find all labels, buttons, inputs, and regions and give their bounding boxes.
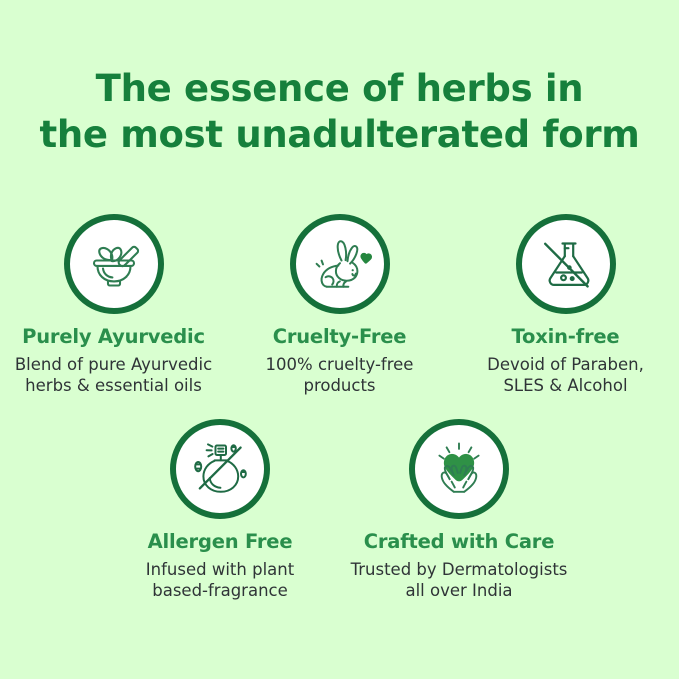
- feature-title: Allergen Free: [148, 530, 293, 554]
- feature-card-allergen-free: Allergen Free Infused with plant based-f…: [101, 419, 340, 601]
- feature-card-cruelty-free: Cruelty-Free 100% cruelty-free products: [227, 214, 453, 396]
- page-title: The essence of herbs in the most unadult…: [0, 66, 679, 158]
- feature-card-toxin-free: Toxin-free Devoid of Paraben, SLES & Alc…: [453, 214, 679, 396]
- feature-icon-badge: [64, 214, 164, 314]
- feature-card-purely-ayurvedic: Purely Ayurvedic Blend of pure Ayurvedic…: [1, 214, 227, 396]
- feature-title: Cruelty-Free: [273, 325, 407, 349]
- hands-holding-heart-icon: [424, 435, 494, 503]
- feature-icon-badge: [516, 214, 616, 314]
- feature-icon-badge: [290, 214, 390, 314]
- feature-highlights-poster: The essence of herbs in the most unadult…: [0, 0, 679, 679]
- mortar-and-pestle-icon: [80, 230, 148, 298]
- feature-row-top: Purely Ayurvedic Blend of pure Ayurvedic…: [0, 214, 679, 396]
- feature-icon-badge: [409, 419, 509, 519]
- feature-grid: Purely Ayurvedic Blend of pure Ayurvedic…: [0, 214, 679, 601]
- no-flask-icon: [532, 230, 600, 298]
- feature-description: Infused with plant based-fragrance: [146, 559, 294, 601]
- feature-title: Toxin-free: [512, 325, 620, 349]
- page-title-line-2: the most unadulterated form: [0, 112, 679, 158]
- feature-title: Crafted with Care: [364, 530, 554, 554]
- feature-icon-badge: [170, 419, 270, 519]
- feature-description: 100% cruelty-free products: [266, 354, 414, 396]
- feature-row-bottom: Allergen Free Infused with plant based-f…: [0, 419, 679, 601]
- feature-description: Devoid of Paraben, SLES & Alcohol: [487, 354, 644, 396]
- rabbit-heart-icon: [305, 230, 375, 298]
- feature-card-crafted-with-care: Crafted with Care Trusted by Dermatologi…: [340, 419, 579, 601]
- feature-title: Purely Ayurvedic: [22, 325, 205, 349]
- page-title-line-1: The essence of herbs in: [0, 66, 679, 112]
- no-perfume-spray-icon: [184, 434, 256, 504]
- feature-description: Blend of pure Ayurvedic herbs & essentia…: [15, 354, 212, 396]
- feature-description: Trusted by Dermatologists all over India: [351, 559, 568, 601]
